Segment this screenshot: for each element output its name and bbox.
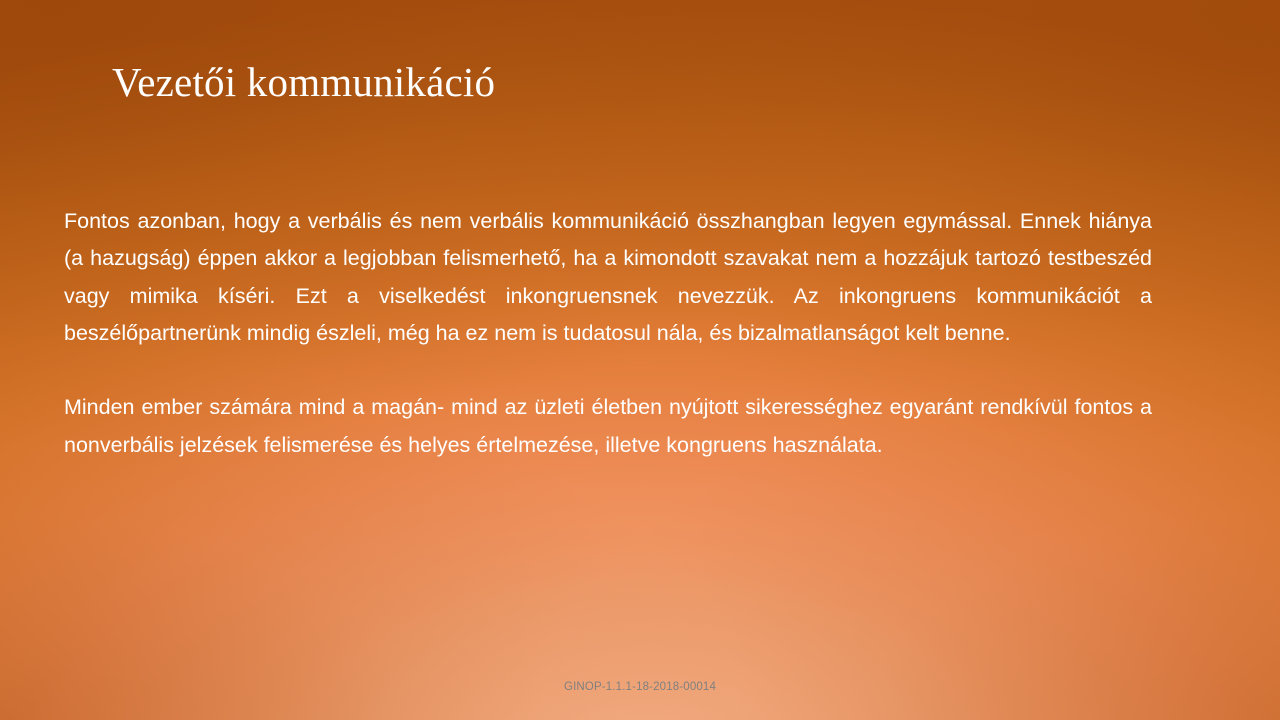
body-paragraph-1: Fontos azonban, hogy a verbális és nem v… <box>64 203 1152 352</box>
slide-title: Vezetői kommunikáció <box>112 57 1152 107</box>
slide-content: Vezetői kommunikáció Fontos azonban, hog… <box>0 0 1280 720</box>
slide-body-textbox: Fontos azonban, hogy a verbális és nem v… <box>64 203 1152 464</box>
body-paragraph-2: Minden ember számára mind a magán- mind … <box>64 389 1152 464</box>
slide-footer-project-code: GINOP-1.1.1-18-2018-00014 <box>0 679 1280 695</box>
presentation-slide: Vezetői kommunikáció Fontos azonban, hog… <box>0 0 1280 720</box>
